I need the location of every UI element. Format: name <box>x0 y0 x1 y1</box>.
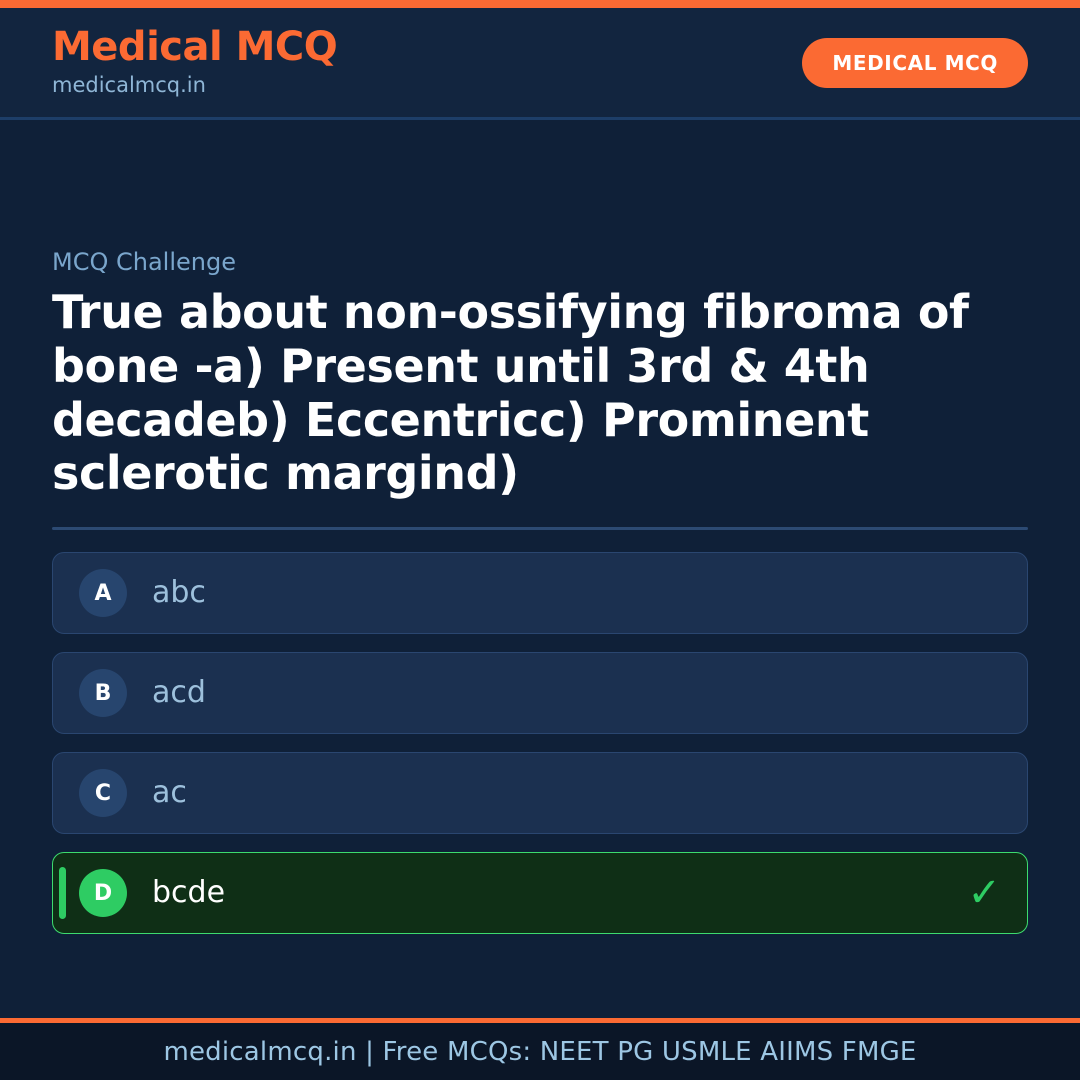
option-label: ac <box>152 775 187 811</box>
footer-text: medicalmcq.in | Free MCQs: NEET PG USMLE… <box>163 1037 916 1067</box>
check-icon: ✓ <box>967 873 1001 913</box>
page-footer: medicalmcq.in | Free MCQs: NEET PG USMLE… <box>0 1018 1080 1080</box>
page-header: Medical MCQ medicalmcq.in MEDICAL MCQ <box>0 8 1080 120</box>
brand-badge: MEDICAL MCQ <box>802 38 1028 88</box>
option-letter-badge: B <box>79 669 127 717</box>
options-list: A abc ✓ B acd ✓ C ac ✓ D bcde ✓ <box>52 552 1028 934</box>
kicker-label: MCQ Challenge <box>52 248 1028 276</box>
brand-subtitle: medicalmcq.in <box>52 72 337 99</box>
mcq-card: Medical MCQ medicalmcq.in MEDICAL MCQ MC… <box>0 0 1080 1080</box>
question-text: True about non-ossifying fibroma of bone… <box>52 286 1022 501</box>
option-letter-badge: C <box>79 769 127 817</box>
correct-accent-bar <box>59 867 66 919</box>
option-c[interactable]: C ac ✓ <box>52 752 1028 834</box>
main-content: MCQ Challenge True about non-ossifying f… <box>0 120 1080 1018</box>
top-accent-strip <box>0 0 1080 8</box>
option-letter-badge: A <box>79 569 127 617</box>
option-b[interactable]: B acd ✓ <box>52 652 1028 734</box>
brand-title: Medical MCQ <box>52 26 337 68</box>
option-label: acd <box>152 675 206 711</box>
option-label: bcde <box>152 875 225 911</box>
section-divider <box>52 527 1028 530</box>
option-a[interactable]: A abc ✓ <box>52 552 1028 634</box>
option-d[interactable]: D bcde ✓ <box>52 852 1028 934</box>
option-label: abc <box>152 575 206 611</box>
brand-block: Medical MCQ medicalmcq.in <box>52 26 337 99</box>
option-letter-badge: D <box>79 869 127 917</box>
